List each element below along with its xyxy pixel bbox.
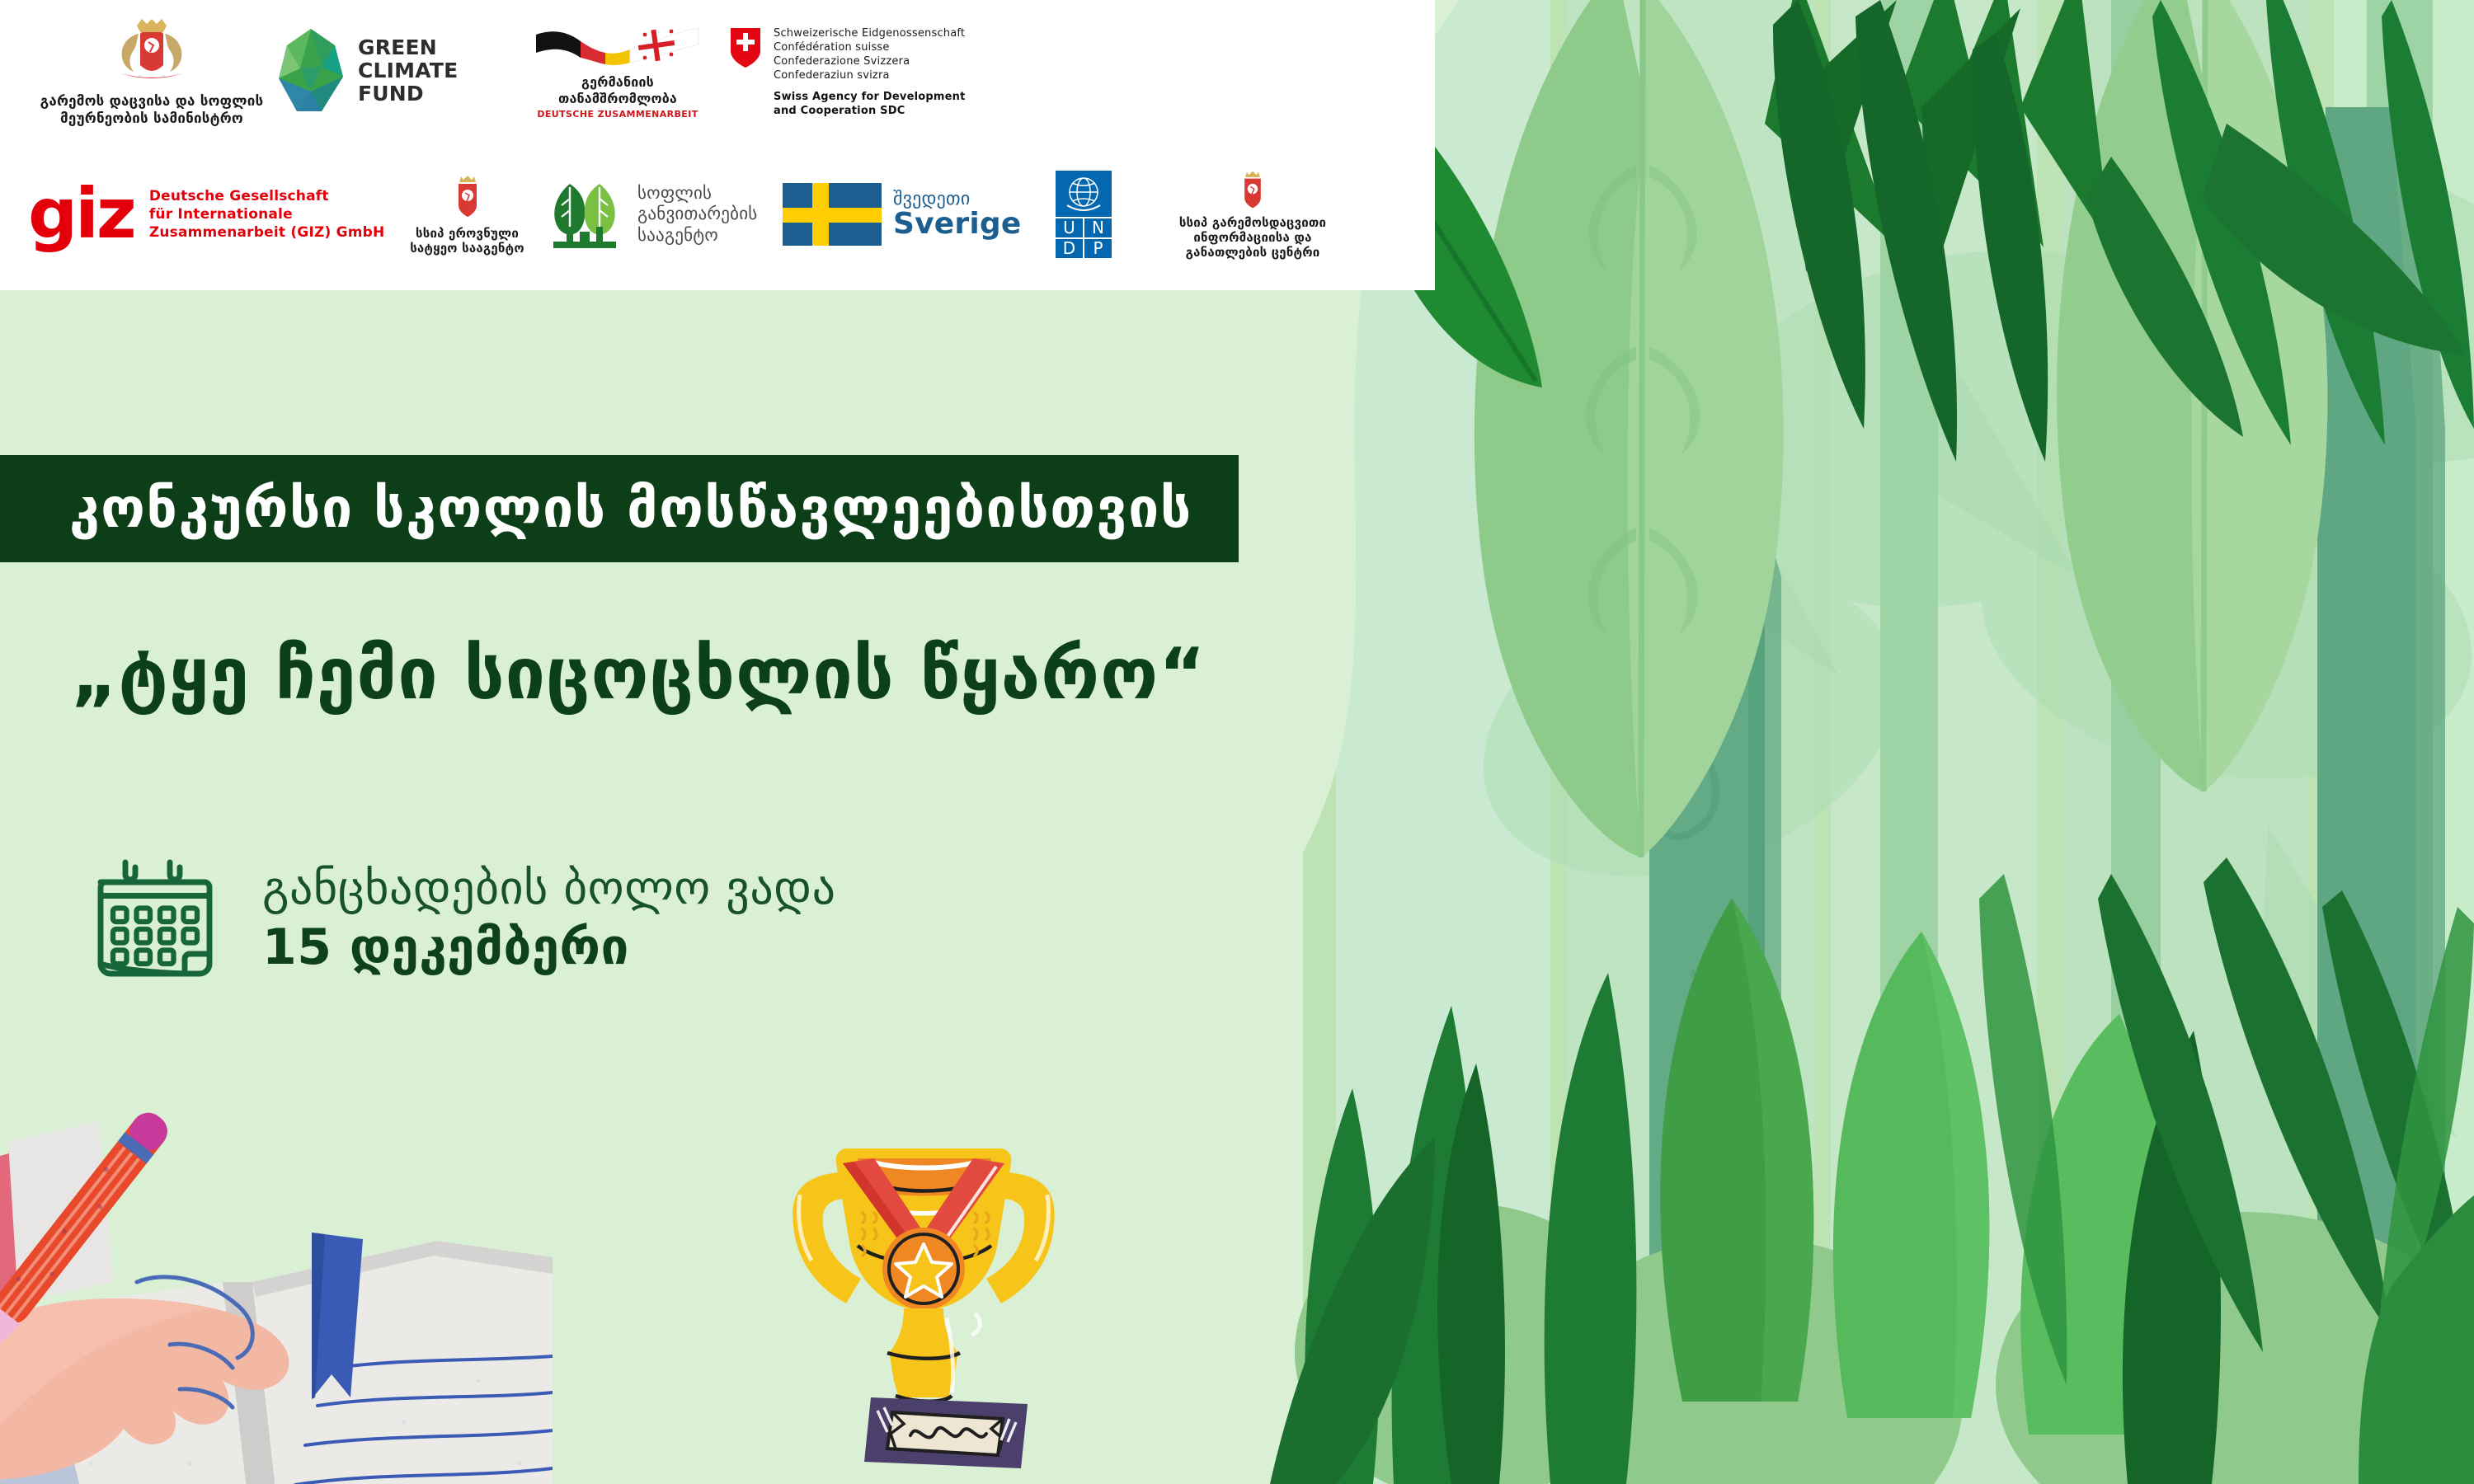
logo-national-forestry-agency: სსიპ ეროვნული სატყეო სააგენტო (391, 173, 543, 256)
svg-text:N: N (1092, 218, 1104, 237)
deadline-date: 15 დეკემბერი (262, 922, 836, 974)
logo-rural-development-label: სოფლის განვითარების სააგენტო (637, 183, 757, 247)
partner-logo-band: გარემოს დაცვისა და სოფლის მეურნეობის სამ… (0, 0, 1435, 290)
georgia-shield-crown-icon (451, 173, 484, 219)
green-climate-fund-gem-icon (275, 27, 346, 115)
logo-deutsche-zusammenarbeit-label-ka: გერმანიის თანამშრომლობა (558, 74, 677, 106)
logo-row-top: გარემოს დაცვისა და სოფლის მეურნეობის სამ… (28, 5, 1075, 137)
undp-logo-icon: U N D P (1056, 171, 1112, 258)
headline-text: კონკურსი სკოლის მოსწავლეებისთვის (69, 481, 1192, 536)
logo-deutsche-zusammenarbeit-label-de: DEUTSCHE ZUSAMMENARBEIT (537, 109, 698, 120)
two-leaf-house-icon (543, 179, 626, 250)
hand-writing-in-notebook-illustration (0, 1035, 553, 1484)
logo-swiss-agency-sdc: Schweizerische Eidgenossenschaft Confédé… (729, 23, 1075, 119)
deadline-label: განცხადების ბოლო ვადა (262, 865, 836, 913)
swiss-cross-shield-icon (729, 26, 762, 69)
deadline-block: განცხადების ბოლო ვადა 15 დეკემბერი (91, 857, 836, 981)
logo-undp: U N D P (1030, 171, 1137, 258)
logo-forestry-agency-label: სსიპ ეროვნული სატყეო სააგენტო (410, 226, 524, 256)
svg-text:U: U (1063, 218, 1075, 237)
swedish-flag-icon (783, 183, 882, 246)
georgia-shield-crown-icon (1238, 169, 1268, 210)
golden-trophy-illustration (750, 1134, 1097, 1484)
georgia-coat-of-arms-icon (102, 14, 201, 87)
logo-green-climate-fund: GREEN CLIMATE FUND (275, 27, 506, 115)
main-title-text: „ტყე ჩემი სიცოცხლის წყარო“ (71, 633, 1206, 716)
logo-giz-label: Deutsche Gesellschaft für Internationale… (149, 187, 385, 242)
logo-sweden-label-ka: შვედეთი (893, 190, 1022, 209)
calendar-icon (91, 857, 214, 981)
logo-environmental-information-education-centre: სსიპ გარემოსდაცვითი ინფორმაციისა და განა… (1137, 169, 1368, 261)
logo-eiec-label: სსიპ გარემოსდაცვითი ინფორმაციისა და განა… (1179, 215, 1326, 261)
headline-banner: კონკურსი სკოლის მოსწავლეებისთვის (0, 455, 1239, 562)
logo-sdc-label: Swiss Agency for Development and Coopera… (774, 91, 966, 119)
logo-sweden-label-en: Sverige (893, 209, 1022, 240)
logo-giz: giz Deutsche Gesellschaft für Internatio… (28, 185, 391, 243)
main-title: „ტყე ჩემი სიცოცხლის წყარო“ (71, 639, 1206, 710)
svg-text:P: P (1093, 238, 1103, 258)
poster-canvas: გარემოს დაცვისა და სოფლის მეურნეობის სამ… (0, 0, 2474, 1484)
giz-wordmark-icon: giz (28, 185, 134, 243)
logo-swiss-confederation-languages: Schweizerische Eidgenossenschaft Confédé… (774, 26, 966, 83)
logo-sweden-sverige: შვედეთი Sverige (783, 183, 1030, 246)
logo-ministry-label: გარემოს დაცვისა და სოფლის მეურნეობის სამ… (40, 93, 264, 127)
logo-row-bottom: giz Deutsche Gesellschaft für Internatio… (28, 157, 1368, 272)
logo-gcf-label: GREEN CLIMATE FUND (358, 36, 458, 106)
logo-deutsche-zusammenarbeit: გერმანიის თანამშრომლობა DEUTSCHE ZUSAMME… (506, 21, 729, 120)
svg-text:D: D (1063, 238, 1075, 258)
german-georgian-flag-ribbon-icon (529, 21, 707, 73)
logo-rural-development-agency: სოფლის განვითარების სააგენტო (543, 179, 783, 250)
logo-ministry-of-environmental-protection: გარემოს დაცვისა და სოფლის მეურნეობის სამ… (28, 14, 275, 127)
